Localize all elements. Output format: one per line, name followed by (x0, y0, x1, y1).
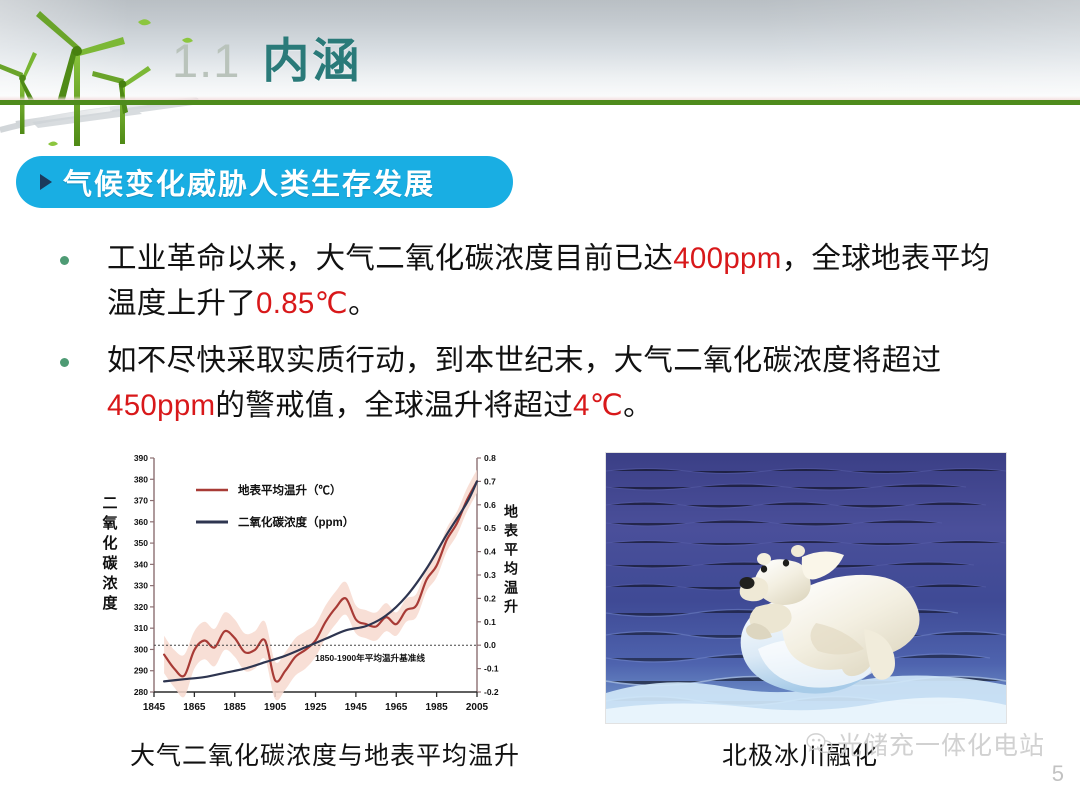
slide-root: 1.1 内涵 气候变化威胁人类生存发展 工业革命以来，大气二氧化碳浓度目前已达4… (0, 0, 1080, 795)
slide-header: 1.1 内涵 (0, 0, 1080, 108)
svg-text:300: 300 (134, 644, 148, 654)
svg-text:均: 均 (504, 561, 518, 577)
svg-text:化: 化 (102, 534, 117, 552)
svg-text:0.1: 0.1 (484, 617, 496, 627)
bullet-text-2: 如不尽快采取实质行动，到本世纪末，大气二氧化碳浓度将超过450ppm的警戒值，全… (107, 338, 1017, 428)
svg-text:320: 320 (134, 602, 148, 612)
bullet-dot-icon (60, 358, 69, 367)
svg-text:二: 二 (102, 495, 117, 512)
chart-annotation-baseline: 1850-1900年平均温升基准线 (315, 652, 425, 663)
section-banner-label: 气候变化威胁人类生存发展 (63, 161, 435, 203)
svg-text:平: 平 (504, 542, 518, 558)
bullet-dot-icon (60, 256, 69, 265)
svg-text:390: 390 (134, 453, 148, 463)
bullet-seg: 。 (348, 287, 378, 320)
bullet-highlight: 400ppm (673, 242, 781, 275)
bullet-highlight: 4℃ (573, 389, 623, 422)
svg-text:温: 温 (504, 580, 518, 596)
bullet-seg: 工业革命以来，大气二氧化碳浓度目前已达 (107, 242, 673, 275)
bullet-list: 工业革命以来，大气二氧化碳浓度目前已达400ppm，全球地表平均温度上升了0.8… (60, 236, 1050, 441)
page-number: 5 (1052, 761, 1064, 787)
svg-text:330: 330 (134, 581, 148, 591)
svg-text:1865: 1865 (183, 702, 206, 713)
svg-text:1965: 1965 (385, 702, 408, 713)
svg-text:度: 度 (102, 594, 118, 612)
svg-text:290: 290 (134, 666, 148, 676)
svg-text:0.7: 0.7 (484, 476, 496, 486)
figure-caption-left: 大气二氧化碳浓度与地表平均温升 (130, 736, 520, 772)
figure-caption-right: 北极冰川融化 (722, 736, 878, 772)
svg-text:350: 350 (134, 538, 148, 548)
svg-text:-0.2: -0.2 (484, 687, 499, 697)
svg-text:0.2: 0.2 (484, 593, 496, 603)
svg-text:340: 340 (134, 559, 148, 569)
svg-text:地: 地 (504, 504, 518, 520)
svg-text:0.3: 0.3 (484, 570, 496, 580)
svg-text:280: 280 (134, 687, 148, 697)
chart-ylabel-right: 地表平均温升 (503, 504, 519, 615)
svg-text:表: 表 (503, 523, 519, 539)
chart-legend: 地表平均温升（℃） 二氧化碳浓度（ppm） (196, 483, 354, 529)
svg-text:1945: 1945 (345, 702, 368, 713)
svg-text:0.5: 0.5 (484, 523, 496, 533)
svg-text:升: 升 (504, 599, 518, 615)
page-title: 1.1 内涵 (172, 22, 362, 91)
svg-text:0.4: 0.4 (484, 547, 496, 557)
svg-text:380: 380 (134, 474, 148, 484)
svg-text:360: 360 (134, 517, 148, 527)
bullet-seg: 的警戒值，全球温升将超过 (215, 389, 573, 422)
svg-text:碳: 碳 (102, 554, 118, 572)
svg-text:0.6: 0.6 (484, 500, 496, 510)
svg-text:310: 310 (134, 623, 148, 633)
header-green-rule (0, 100, 1080, 105)
svg-text:1905: 1905 (264, 702, 287, 713)
section-banner[interactable]: 气候变化威胁人类生存发展 (16, 156, 513, 208)
svg-text:1885: 1885 (224, 702, 247, 713)
bullet-seg: 。 (623, 389, 653, 422)
bullet-text-1: 工业革命以来，大气二氧化碳浓度目前已达400ppm，全球地表平均温度上升了0.8… (107, 236, 1017, 326)
svg-text:二氧化碳浓度（ppm）: 二氧化碳浓度（ppm） (238, 515, 354, 529)
bullet-highlight: 0.85℃ (256, 287, 348, 320)
co2-temperature-chart: 280290300310320330340350360370380390 -0.… (96, 446, 526, 726)
polar-bear-photo (605, 452, 1007, 724)
chart-ylabel-left: 二氧化碳浓度 (101, 495, 118, 612)
svg-text:浓: 浓 (102, 575, 118, 592)
svg-text:-0.1: -0.1 (484, 664, 499, 674)
bullet-seg: 如不尽快采取实质行动，到本世纪末，大气二氧化碳浓度将超过 (107, 344, 941, 377)
list-item: 工业革命以来，大气二氧化碳浓度目前已达400ppm，全球地表平均温度上升了0.8… (60, 236, 1050, 326)
svg-text:1925: 1925 (304, 702, 327, 713)
svg-text:地表平均温升（℃）: 地表平均温升（℃） (238, 483, 342, 497)
bullet-highlight: 450ppm (107, 389, 215, 422)
triangle-right-icon (40, 174, 52, 190)
section-number: 1.1 (172, 33, 240, 88)
svg-text:370: 370 (134, 496, 148, 506)
svg-text:1985: 1985 (426, 702, 449, 713)
svg-text:0.0: 0.0 (484, 640, 496, 650)
svg-text:2005: 2005 (466, 702, 489, 713)
svg-text:氧: 氧 (101, 514, 117, 532)
svg-text:0.8: 0.8 (484, 453, 496, 463)
section-title: 内涵 (262, 22, 362, 91)
svg-text:1845: 1845 (143, 702, 166, 713)
list-item: 如不尽快采取实质行动，到本世纪末，大气二氧化碳浓度将超过450ppm的警戒值，全… (60, 338, 1050, 428)
